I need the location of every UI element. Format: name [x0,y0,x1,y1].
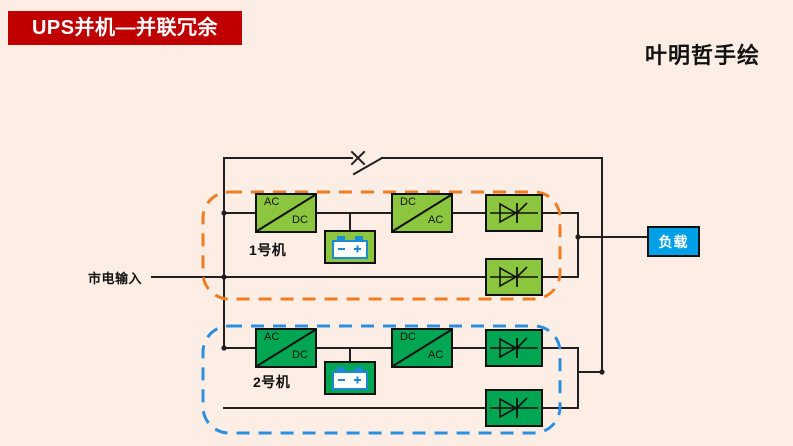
junction-dot [221,274,226,279]
ups1-rectifier-top-label: AC [264,196,279,208]
ups2-rectifier-bottom-label: DC [292,349,308,361]
ups1-inverter-top-label: DC [400,196,416,208]
junction-dot [221,210,226,215]
ups2-inverter-bottom-label: AC [428,349,443,361]
load-label: 负载 [659,232,689,252]
ups1-static-switch-block[interactable] [486,195,542,231]
ups1-rectifier-bottom-label: DC [292,214,308,226]
title-banner-text: UPS并机—并联冗余 [32,18,218,38]
ups-1-label: 1号机 [249,240,286,260]
ups1-inverter-bottom-label: AC [428,214,443,226]
wiring-layer [152,152,647,408]
junction-dot [575,234,580,239]
ups1-bypass-switch-block[interactable] [486,259,542,295]
ups2-static-switch-block[interactable] [486,330,542,366]
ups-2-label: 2号机 [253,372,290,392]
author-credit: 叶明哲手绘 [645,38,760,70]
diagram-canvas: UPS并机—并联冗余 叶明哲手绘 市电输入 1号机 AC DC DC AC 2号… [0,0,793,446]
bypass-switch-symbol[interactable] [352,152,382,174]
ups2-inverter-top-label: DC [400,331,416,343]
load-box: 负载 [647,226,700,257]
switch-blade [354,158,382,174]
ups1-battery-block[interactable] [325,231,375,263]
ups2-battery-block[interactable] [325,362,375,394]
title-banner: UPS并机—并联冗余 [8,11,242,45]
junction-dot [599,369,604,374]
ups2-rectifier-top-label: AC [264,331,279,343]
ups2-bypass-switch-block[interactable] [486,390,542,426]
junction-dot [221,345,226,350]
mains-input-label: 市电输入 [88,268,142,287]
